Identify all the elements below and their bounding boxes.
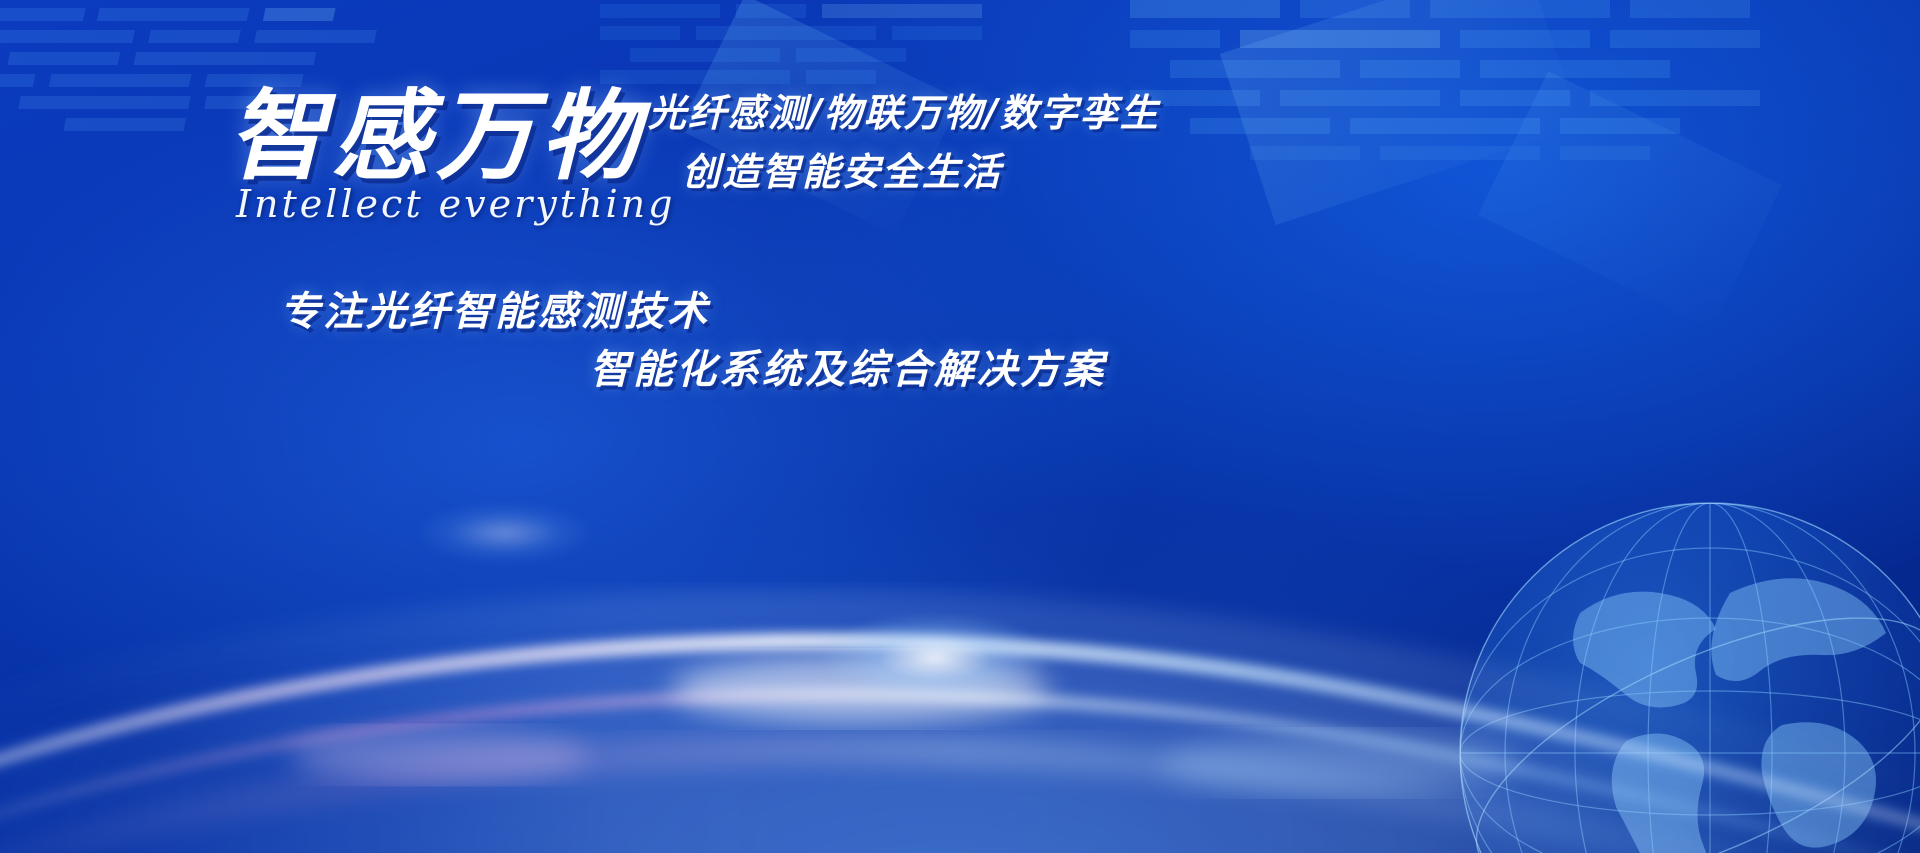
banner-slogan-block: 光纤感测/物联万物/数字孪生 创造智能安全生活 bbox=[648, 84, 1160, 202]
banner-slogan-line-1: 光纤感测/物联万物/数字孪生 bbox=[648, 84, 1160, 143]
banner-subtitle-block: 专注光纤智能感测技术 智能化系统及综合解决方案 bbox=[280, 283, 1106, 399]
banner-subtitle-line-1: 专注光纤智能感测技术 bbox=[280, 283, 1106, 341]
banner-headline-zh: 智感万物 bbox=[228, 88, 644, 186]
banner-subtitle-line-2: 智能化系统及综合解决方案 bbox=[280, 341, 1106, 399]
banner-headline-en: Intellect everything bbox=[236, 182, 675, 226]
banner-text-layer: 智感万物 Intellect everything 光纤感测/物联万物/数字孪生… bbox=[0, 0, 1920, 853]
banner-slogan-line-2: 创造智能安全生活 bbox=[648, 143, 1160, 202]
hero-banner: 智感万物 Intellect everything 光纤感测/物联万物/数字孪生… bbox=[0, 0, 1920, 853]
